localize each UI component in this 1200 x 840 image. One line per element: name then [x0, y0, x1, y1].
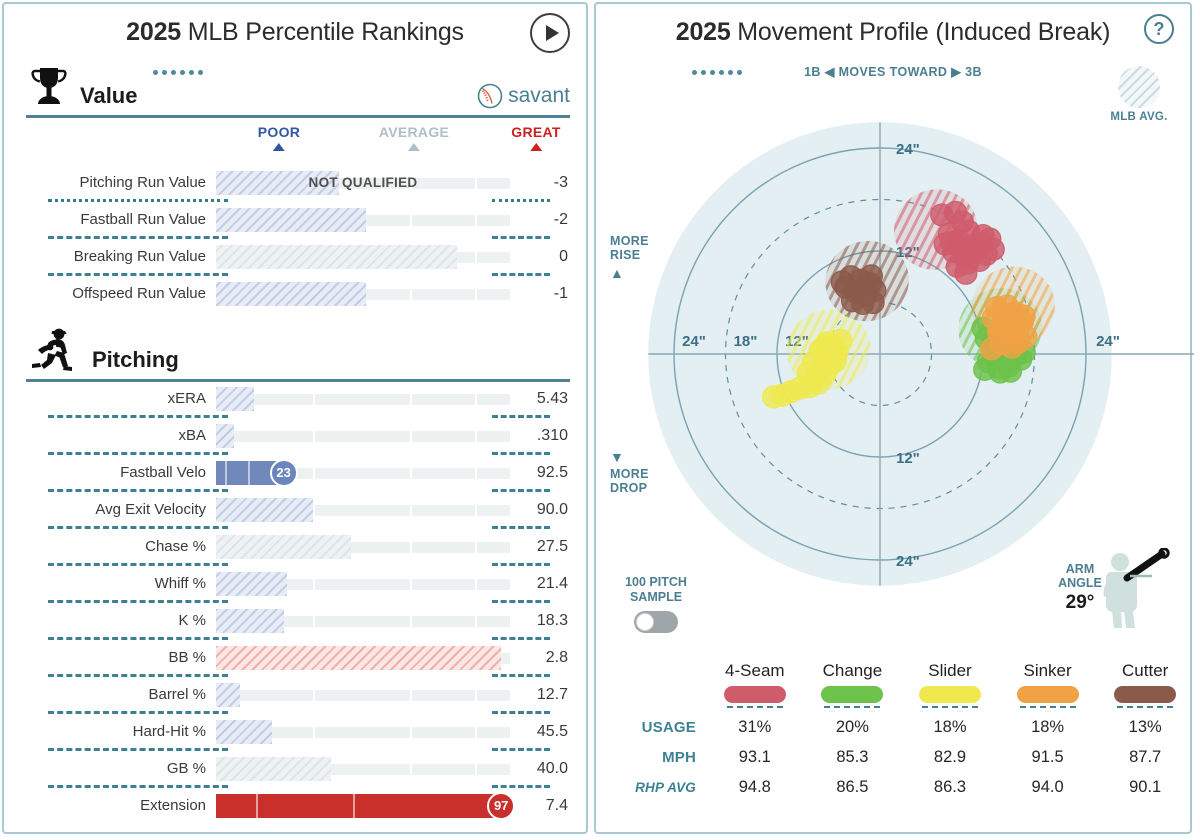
pitching-section-header: Pitching [26, 336, 570, 382]
rhp-avg-row: RHP AVG 94.8 86.5 86.3 94.0 90.1 [596, 772, 1194, 802]
svg-text:24": 24" [1096, 333, 1120, 350]
bar-tick [410, 542, 412, 553]
pitch-name[interactable]: Sinker [999, 661, 1097, 681]
metric-label: xERA [26, 390, 216, 407]
help-button[interactable]: ? [1144, 14, 1174, 44]
savant-wordmark: savant [508, 84, 570, 108]
metric-row[interactable]: Barrel %12.7 [26, 678, 568, 711]
metric-row[interactable]: Breaking Run Value0 [26, 240, 568, 273]
bar-background [216, 431, 510, 442]
mph-value: 87.7 [1096, 748, 1194, 767]
metric-row[interactable]: Whiff %21.4 [26, 567, 568, 600]
title-year: 2025 [126, 18, 181, 46]
bar-background [216, 690, 510, 701]
metric-bar-fill [216, 683, 240, 707]
usage-value: 20% [804, 718, 902, 737]
metric-bar-fill [216, 535, 351, 559]
bar-tick [475, 579, 477, 590]
bar-tick [313, 394, 315, 405]
metric-bar-fill [216, 208, 366, 232]
pitch-swatch-cell [999, 681, 1097, 712]
metric-bar-track [216, 646, 510, 670]
pitch-name[interactable]: Cutter [1096, 661, 1194, 681]
scale-label-great: GREAT [511, 124, 560, 151]
pitch-swatch-cell [901, 681, 999, 712]
bar-tick [475, 394, 477, 405]
bar-tick [475, 727, 477, 738]
metric-label: BB % [26, 649, 216, 666]
bar-tick [256, 794, 258, 818]
metric-bar-track [216, 424, 510, 448]
svg-text:24": 24" [896, 553, 920, 570]
metric-value: .310 [510, 427, 568, 445]
metric-value: 12.7 [510, 686, 568, 704]
movement-chart[interactable]: 24"12"12"24"24"18"12"12"24" MORERISE ▲ ▼… [596, 62, 1194, 642]
bar-tick [410, 727, 412, 738]
metric-value: 0 [510, 248, 568, 266]
baseball-icon [476, 82, 504, 110]
pitching-section-label: Pitching [92, 347, 179, 377]
bar-tick [475, 431, 477, 442]
metric-row[interactable]: Hard-Hit %45.5 [26, 715, 568, 748]
svg-text:24": 24" [682, 333, 706, 350]
metric-value: 7.4 [510, 797, 568, 815]
metric-bar-track [216, 683, 510, 707]
metric-bar-fill [216, 757, 331, 781]
metric-bar-track [216, 609, 510, 633]
metric-label: Fastball Velo [26, 464, 216, 481]
bar-tick [475, 215, 477, 226]
pitch-swatch-cell [1096, 681, 1194, 712]
metric-bar-fill [216, 720, 272, 744]
bar-tick [313, 690, 315, 701]
mph-row: MPH 93.1 85.3 82.9 91.5 87.7 [596, 742, 1194, 772]
movement-title-year: 2025 [676, 18, 731, 46]
metric-label: Hard-Hit % [26, 723, 216, 740]
percentile-badge: 97 [487, 792, 515, 820]
rhp-avg-value: 94.8 [706, 778, 804, 797]
metric-value: -1 [510, 285, 568, 303]
svg-text:24": 24" [896, 141, 920, 158]
scale-label-average: AVERAGE [379, 124, 449, 151]
pitch-swatch-cell [804, 681, 902, 712]
pitch-color-swatch [1017, 686, 1079, 703]
bar-tick [410, 431, 412, 442]
bar-tick [475, 468, 477, 479]
metric-value: 90.0 [510, 501, 568, 519]
metric-label: Extension [26, 797, 216, 814]
rise-arrow-icon: ▲ [610, 266, 649, 280]
metric-bar-track [216, 208, 510, 232]
pitching-metrics-list: xERA5.43xBA.310Fastball Velo2392.5Avg Ex… [26, 382, 568, 822]
bar-tick [410, 690, 412, 701]
play-button[interactable] [530, 13, 570, 53]
pitch-name[interactable]: Slider [901, 661, 999, 681]
pitcher-icon [26, 326, 84, 377]
metric-bar-fill [216, 609, 284, 633]
sample-toggle-switch[interactable] [634, 611, 678, 633]
bar-tick [313, 579, 315, 590]
metric-value: 5.43 [510, 390, 568, 408]
metric-bar-fill [216, 794, 501, 818]
pitch-color-swatch [724, 686, 786, 703]
rhp-avg-value: 90.1 [1096, 778, 1194, 797]
page-title: 2025 MLB Percentile Rankings [4, 4, 586, 58]
metric-bar-fill [216, 282, 366, 306]
metric-value: 92.5 [510, 464, 568, 482]
movement-title: 2025 Movement Profile (Induced Break) [596, 4, 1190, 58]
metric-row[interactable]: Fastball Run Value-2 [26, 203, 568, 236]
metric-row[interactable]: Offspeed Run Value-1 [26, 277, 568, 310]
metric-row[interactable]: BB %2.8 [26, 641, 568, 674]
bar-tick [475, 178, 477, 189]
bar-tick [475, 690, 477, 701]
pitch-color-swatch [1114, 686, 1176, 703]
bar-tick [410, 764, 412, 775]
metric-row[interactable]: Extension977.4 [26, 789, 568, 822]
arm-angle-group: ARMANGLE 29° [1040, 562, 1120, 614]
drop-arrow-icon: ▼ [610, 450, 649, 464]
rhp-avg-value: 86.5 [804, 778, 902, 797]
bar-tick [313, 505, 315, 516]
bar-tick [410, 215, 412, 226]
value-metrics-list: Pitching Run ValueNOT QUALIFIED-3Fastbal… [26, 166, 568, 310]
rhp-avg-row-label: RHP AVG [596, 780, 706, 795]
metric-bar-track [216, 572, 510, 596]
value-section-header: Value savant [26, 72, 570, 118]
svg-text:18": 18" [734, 333, 758, 350]
metric-label: Whiff % [26, 575, 216, 592]
metric-label: xBA [26, 427, 216, 444]
metric-value: 45.5 [510, 723, 568, 741]
bar-tick [313, 616, 315, 627]
metric-value: 27.5 [510, 538, 568, 556]
mph-value: 85.3 [804, 748, 902, 767]
metric-row[interactable]: Chase %27.5 [26, 530, 568, 563]
pitch-name[interactable]: Change [804, 661, 902, 681]
pitcher-silhouette-icon [1094, 548, 1172, 632]
metric-value: 18.3 [510, 612, 568, 630]
bar-tick [353, 794, 355, 818]
legend-names-row: 4-Seam Change Slider Sinker Cutter [596, 661, 1194, 681]
not-qualified-note: NOT QUALIFIED [309, 175, 418, 190]
metric-value: -3 [510, 174, 568, 192]
bar-tick [410, 289, 412, 300]
bar-tick [475, 764, 477, 775]
legend-swatch-row [596, 681, 1194, 712]
metric-label: Fastball Run Value [26, 211, 216, 228]
metric-row[interactable]: K %18.3 [26, 604, 568, 637]
mph-value: 91.5 [999, 748, 1097, 767]
metric-bar-track [216, 245, 510, 269]
metric-value: 40.0 [510, 760, 568, 778]
metric-label: Chase % [26, 538, 216, 555]
bar-tick [410, 394, 412, 405]
metric-label: Pitching Run Value [26, 174, 216, 191]
metric-bar-fill [216, 387, 254, 411]
usage-value: 18% [901, 718, 999, 737]
metric-bar-track [216, 498, 510, 522]
metric-bar-fill [216, 424, 234, 448]
more-rise-label: MORERISE ▲ [610, 234, 649, 283]
metric-row[interactable]: Avg Exit Velocity90.0 [26, 493, 568, 526]
metric-bar-fill [216, 572, 287, 596]
value-section-label: Value [80, 83, 137, 113]
bar-tick [475, 252, 477, 263]
metric-label: Breaking Run Value [26, 248, 216, 265]
scale-label-poor: POOR [258, 124, 300, 151]
metric-bar-track [216, 387, 510, 411]
metric-row[interactable]: GB %40.0 [26, 752, 568, 785]
metric-value: 21.4 [510, 575, 568, 593]
metric-row[interactable]: Pitching Run ValueNOT QUALIFIED-3 [26, 166, 568, 199]
bar-tick [313, 468, 315, 479]
metric-value: 2.8 [510, 649, 568, 667]
metric-label: K % [26, 612, 216, 629]
pitch-divider [824, 706, 880, 708]
metric-label: Offspeed Run Value [26, 285, 216, 302]
mph-value: 93.1 [706, 748, 804, 767]
mph-row-label: MPH [596, 749, 706, 766]
metric-row[interactable]: xERA5.43 [26, 382, 568, 415]
percentile-badge: 23 [270, 459, 298, 487]
bar-tick [475, 505, 477, 516]
metric-bar-track: NOT QUALIFIED [216, 171, 510, 195]
movement-title-dots [688, 53, 750, 58]
pitch-legend-table: 4-Seam Change Slider Sinker Cutter [596, 661, 1194, 802]
pitch-color-swatch [919, 686, 981, 703]
rhp-avg-value: 94.0 [999, 778, 1097, 797]
metric-value: -2 [510, 211, 568, 229]
rhp-avg-value: 86.3 [901, 778, 999, 797]
bar-tick [475, 616, 477, 627]
bar-tick [410, 579, 412, 590]
title-dots [149, 53, 211, 58]
sample-toggle-label: 100 PITCHSAMPLE [608, 575, 704, 605]
bar-tick [313, 727, 315, 738]
metric-bar-track [216, 757, 510, 781]
title-text: MLB Percentile Rankings [181, 18, 464, 46]
usage-value: 31% [706, 718, 804, 737]
trophy-icon [26, 64, 72, 113]
movement-profile-panel: 2025 Movement Profile (Induced Break) ? … [594, 2, 1192, 834]
savant-logo[interactable]: savant [476, 82, 570, 113]
metric-bar-track [216, 720, 510, 744]
metric-bar-fill [216, 498, 313, 522]
pitch-divider [1020, 706, 1076, 708]
bar-tick [410, 505, 412, 516]
pitch-color-swatch [821, 686, 883, 703]
metric-row[interactable]: Fastball Velo2392.5 [26, 456, 568, 489]
pitch-name[interactable]: 4-Seam [706, 661, 804, 681]
sample-toggle-group[interactable]: 100 PITCHSAMPLE [608, 575, 704, 633]
usage-row-label: USAGE [596, 719, 706, 736]
bar-tick [475, 542, 477, 553]
metric-bar-fill [216, 646, 501, 670]
play-icon [546, 25, 559, 41]
metric-bar-track [216, 282, 510, 306]
usage-value: 13% [1096, 718, 1194, 737]
metric-bar-fill [216, 245, 457, 269]
metric-label: GB % [26, 760, 216, 777]
usage-row: USAGE 31% 20% 18% 18% 13% [596, 712, 1194, 742]
metric-bar-track: 23 [216, 461, 510, 485]
bar-background [216, 394, 510, 405]
bar-tick [313, 431, 315, 442]
metric-label: Avg Exit Velocity [26, 501, 216, 518]
metric-bar-track [216, 535, 510, 559]
bar-tick [248, 461, 250, 485]
player-card: 2025 MLB Percentile Rankings Value [0, 0, 1200, 840]
bar-tick [410, 616, 412, 627]
percentile-rankings-panel: 2025 MLB Percentile Rankings Value [2, 2, 588, 834]
metric-label: Barrel % [26, 686, 216, 703]
usage-value: 18% [999, 718, 1097, 737]
bar-tick [475, 289, 477, 300]
pitch-divider [1117, 706, 1173, 708]
mph-value: 82.9 [901, 748, 999, 767]
metric-bar-track: 97 [216, 794, 510, 818]
pitch-divider [727, 706, 783, 708]
bar-tick [225, 461, 227, 485]
svg-text:12": 12" [896, 450, 920, 467]
percentile-scale-legend: POOR AVERAGE GREAT [26, 124, 568, 166]
movement-title-text: Movement Profile (Induced Break) [731, 18, 1111, 46]
pitch-divider [922, 706, 978, 708]
more-drop-label: ▼ MOREDROP [610, 447, 649, 496]
pitch-swatch-cell [706, 681, 804, 712]
question-mark-icon: ? [1154, 19, 1165, 40]
toggle-knob [636, 613, 654, 631]
bar-tick [410, 468, 412, 479]
metric-row[interactable]: xBA.310 [26, 419, 568, 452]
